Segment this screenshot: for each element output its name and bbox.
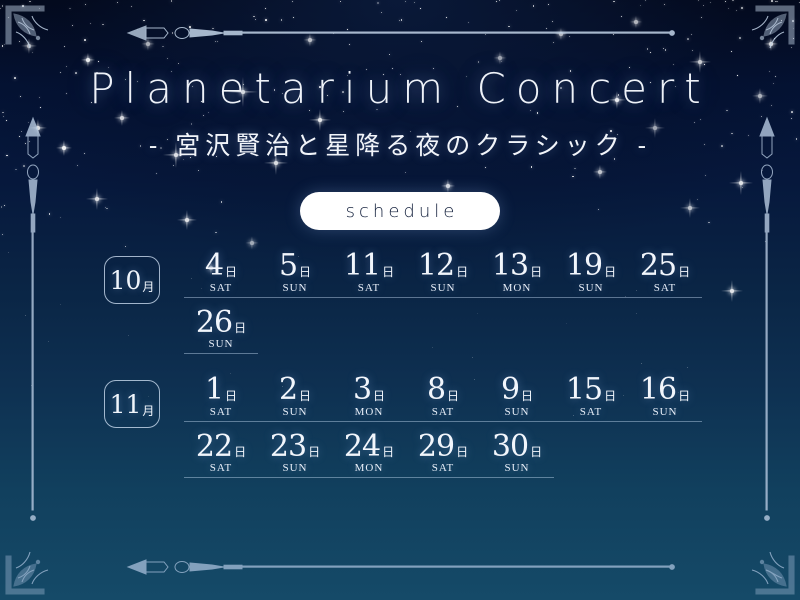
date-unit: 日 [530, 266, 542, 278]
date-unit: 日 [308, 446, 320, 458]
date-number: 3 [353, 376, 371, 405]
date-cell[interactable]: 5日SUN [258, 252, 332, 294]
day-of-week: SUN [554, 282, 628, 294]
month-badge: 10月 [104, 256, 160, 304]
date-unit: 日 [234, 446, 246, 458]
date-unit: 日 [521, 390, 533, 402]
day-of-week: SAT [406, 406, 480, 418]
date-unit: 日 [604, 390, 616, 402]
date-unit: 日 [604, 266, 616, 278]
day-of-week: SUN [480, 406, 554, 418]
date-cell[interactable]: 30日SUN [480, 433, 554, 475]
date-number: 29 [418, 433, 454, 462]
month-unit: 月 [142, 281, 154, 293]
date-number: 4 [205, 252, 223, 281]
date-cell[interactable]: 23日SUN [258, 433, 332, 475]
day-of-week: SAT [332, 282, 406, 294]
month-unit: 月 [142, 405, 154, 417]
month-number: 10 [110, 268, 142, 293]
date-unit: 日 [678, 266, 690, 278]
date-unit: 日 [382, 266, 394, 278]
date-number: 12 [418, 252, 454, 281]
schedule-badge-label: schedule [342, 201, 459, 222]
date-number: 8 [427, 376, 445, 405]
day-of-week: MON [480, 282, 554, 294]
poster-content: Planetarium Concert - 宮沢賢治と星降る夜のクラシック - … [0, 0, 800, 600]
date-cell[interactable]: 11日SAT [332, 252, 406, 294]
day-of-week: SUN [258, 282, 332, 294]
date-cell[interactable]: 9日SUN [480, 376, 554, 418]
date-row: 22日SAT23日SUN24日MON29日SAT30日SUN [184, 433, 554, 479]
date-row: 1日SAT2日SUN3日MON8日SAT9日SUN15日SAT16日SUN [184, 376, 702, 422]
date-row: 4日SAT5日SUN11日SAT12日SUN13日MON19日SUN25日SAT [184, 252, 702, 298]
month-badge: 11月 [104, 380, 160, 428]
day-of-week: SAT [554, 406, 628, 418]
date-cell[interactable]: 8日SAT [406, 376, 480, 418]
date-cell[interactable]: 15日SAT [554, 376, 628, 418]
date-number: 30 [492, 433, 528, 462]
date-unit: 日 [678, 390, 690, 402]
day-of-week: SUN [258, 406, 332, 418]
date-number: 2 [279, 376, 297, 405]
date-number: 5 [279, 252, 297, 281]
schedule-list: 10月4日SAT5日SUN11日SAT12日SUN13日MON19日SUN25日… [104, 252, 704, 496]
date-cell[interactable]: 25日SAT [628, 252, 702, 294]
page-subtitle: - 宮沢賢治と星降る夜のクラシック - [0, 126, 800, 162]
date-row: 26日SUN [184, 309, 258, 355]
date-cell[interactable]: 2日SUN [258, 376, 332, 418]
date-number: 25 [640, 252, 676, 281]
date-number: 11 [344, 252, 380, 281]
date-unit: 日 [382, 446, 394, 458]
date-cell[interactable]: 13日MON [480, 252, 554, 294]
date-cell[interactable]: 24日MON [332, 433, 406, 475]
date-cell[interactable]: 26日SUN [184, 309, 258, 351]
date-cell[interactable]: 12日SUN [406, 252, 480, 294]
poster-canvas: Planetarium Concert - 宮沢賢治と星降る夜のクラシック - … [0, 0, 800, 600]
day-of-week: MON [332, 406, 406, 418]
date-unit: 日 [456, 446, 468, 458]
date-unit: 日 [373, 390, 385, 402]
day-of-week: SAT [184, 406, 258, 418]
date-number: 13 [492, 252, 528, 281]
day-of-week: SAT [628, 282, 702, 294]
month-block: 11月1日SAT2日SUN3日MON8日SAT9日SUN15日SAT16日SUN… [104, 376, 704, 478]
month-date-rows: 4日SAT5日SUN11日SAT12日SUN13日MON19日SUN25日SAT… [184, 252, 704, 354]
date-unit: 日 [447, 390, 459, 402]
date-unit: 日 [456, 266, 468, 278]
date-unit: 日 [299, 266, 311, 278]
date-cell[interactable]: 4日SAT [184, 252, 258, 294]
month-number: 11 [110, 392, 142, 417]
date-cell[interactable]: 19日SUN [554, 252, 628, 294]
date-unit: 日 [225, 390, 237, 402]
date-number: 9 [501, 376, 519, 405]
day-of-week: SAT [184, 282, 258, 294]
date-number: 19 [566, 252, 602, 281]
page-title: Planetarium Concert [0, 64, 800, 113]
date-unit: 日 [299, 390, 311, 402]
date-number: 1 [205, 376, 223, 405]
date-number: 26 [196, 309, 232, 338]
date-number: 23 [270, 433, 306, 462]
month-block: 10月4日SAT5日SUN11日SAT12日SUN13日MON19日SUN25日… [104, 252, 704, 354]
date-cell[interactable]: 16日SUN [628, 376, 702, 418]
schedule-badge: schedule [300, 192, 500, 230]
date-cell[interactable]: 29日SAT [406, 433, 480, 475]
date-cell[interactable]: 3日MON [332, 376, 406, 418]
month-date-rows: 1日SAT2日SUN3日MON8日SAT9日SUN15日SAT16日SUN22日… [184, 376, 704, 478]
date-cell[interactable]: 1日SAT [184, 376, 258, 418]
date-number: 24 [344, 433, 380, 462]
date-number: 15 [566, 376, 602, 405]
date-unit: 日 [225, 266, 237, 278]
day-of-week: SUN [406, 282, 480, 294]
date-unit: 日 [530, 446, 542, 458]
date-cell[interactable]: 22日SAT [184, 433, 258, 475]
date-unit: 日 [234, 322, 246, 334]
day-of-week: SUN [628, 406, 702, 418]
date-number: 16 [640, 376, 676, 405]
date-number: 22 [196, 433, 232, 462]
